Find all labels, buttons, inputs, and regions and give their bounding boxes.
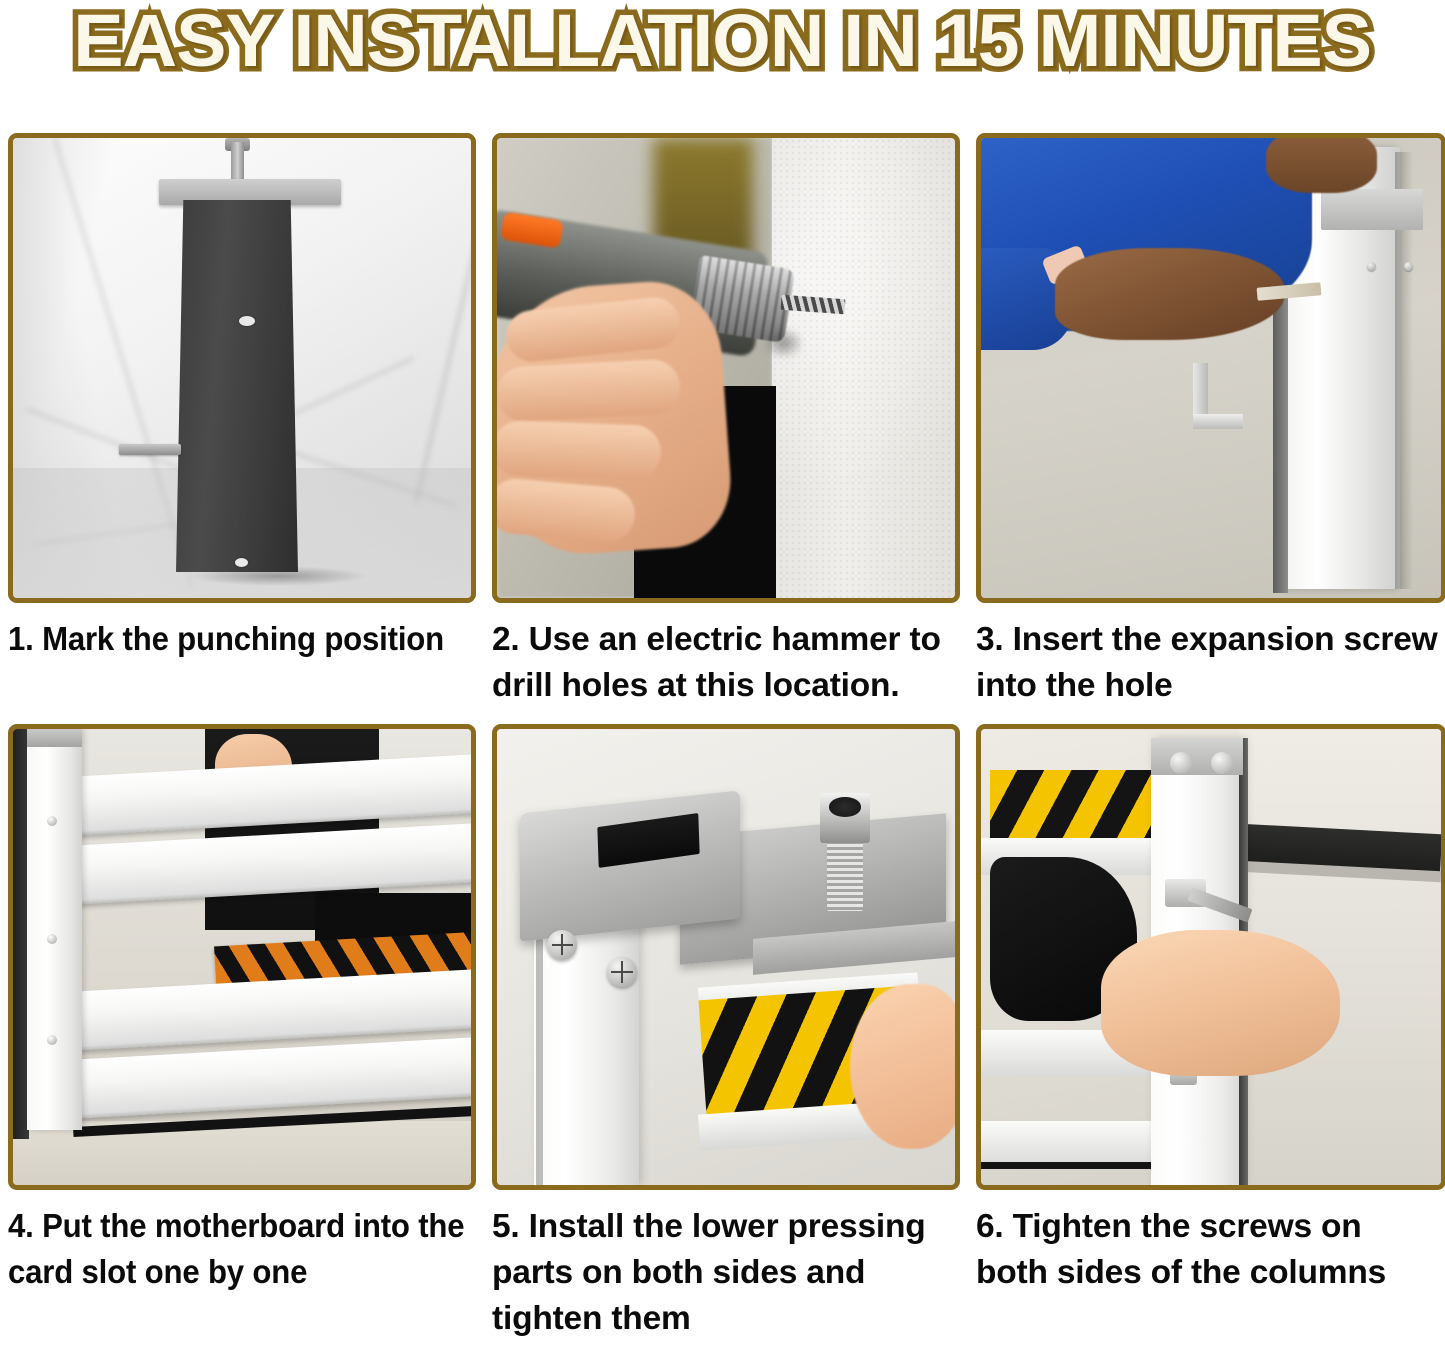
finger <box>497 420 663 481</box>
step-photo-5 <box>492 724 960 1190</box>
finger <box>497 359 682 424</box>
side-bolt <box>119 444 181 455</box>
drill-dust <box>763 327 804 359</box>
step-photo-2 <box>492 133 960 603</box>
page-title: EASY INSTALLATION IN 15 MINUTES <box>74 2 1372 80</box>
pressing-bracket <box>520 790 740 941</box>
step-card-2: 2. Use an electric hammer to drill holes… <box>492 133 960 709</box>
step-card-6: 6. Tighten the screws on both sides of t… <box>976 724 1445 1342</box>
step-card-5: 5. Install the lower pressing parts on b… <box>492 724 960 1342</box>
step-card-3: 3. Insert the expansion screw into the h… <box>976 133 1445 709</box>
step-card-1: 1. Mark the punching position <box>8 133 476 709</box>
step-caption-1: 1. Mark the punching position <box>8 617 477 663</box>
mounting-hole <box>235 558 248 567</box>
steps-grid: 1. Mark the punching position <box>8 133 1438 1342</box>
screw-head <box>1211 752 1233 774</box>
step-caption-6: 6. Tighten the screws on both sides of t… <box>976 1204 1445 1296</box>
hand <box>1101 930 1340 1076</box>
bolt-shaft <box>827 838 864 911</box>
step-photo-1 <box>8 133 476 603</box>
top-stud <box>231 142 244 184</box>
screw-head <box>47 816 57 826</box>
target-wall <box>772 138 955 598</box>
step-caption-5: 5. Install the lower pressing parts on b… <box>492 1204 960 1342</box>
base-rail <box>981 1162 1156 1169</box>
photo-scene-mark-position <box>13 138 471 598</box>
step-caption-3: 3. Insert the expansion screw into the h… <box>976 617 1445 709</box>
mounting-plate <box>1321 189 1422 230</box>
post-edge <box>536 911 543 1185</box>
photo-scene-drill-wall <box>497 138 955 598</box>
phillips-screw <box>607 957 637 987</box>
hazard-stripe-board <box>990 770 1151 838</box>
worker-arm <box>1055 248 1285 340</box>
screw-head <box>47 1035 57 1045</box>
bolt-hex-socket <box>829 797 861 816</box>
allen-key-short-arm <box>1193 414 1244 429</box>
photo-scene-tighten-screws <box>981 729 1441 1185</box>
barrier-board <box>981 1121 1156 1167</box>
post-top-cap <box>27 729 82 747</box>
step-card-4: 4. Put the motherboard into the card slo… <box>8 724 476 1342</box>
mounting-hole <box>239 316 255 326</box>
column-post <box>27 729 82 1130</box>
photo-scene-pressing-parts <box>497 729 955 1185</box>
phillips-screw <box>547 930 577 960</box>
step-photo-4 <box>8 724 476 1190</box>
column-post <box>176 200 298 572</box>
title-banner: EASY INSTALLATION IN 15 MINUTES <box>0 0 1445 100</box>
photo-scene-insert-boards <box>13 729 471 1185</box>
worker-hand <box>1266 138 1376 193</box>
photo-scene-insert-screw <box>981 138 1441 598</box>
step-photo-6 <box>976 724 1445 1190</box>
step-photo-3 <box>976 133 1445 603</box>
step-caption-4: 4. Put the motherboard into the card slo… <box>8 1204 477 1296</box>
screw-head <box>1170 752 1192 774</box>
step-caption-2: 2. Use an electric hammer to drill holes… <box>492 617 960 709</box>
